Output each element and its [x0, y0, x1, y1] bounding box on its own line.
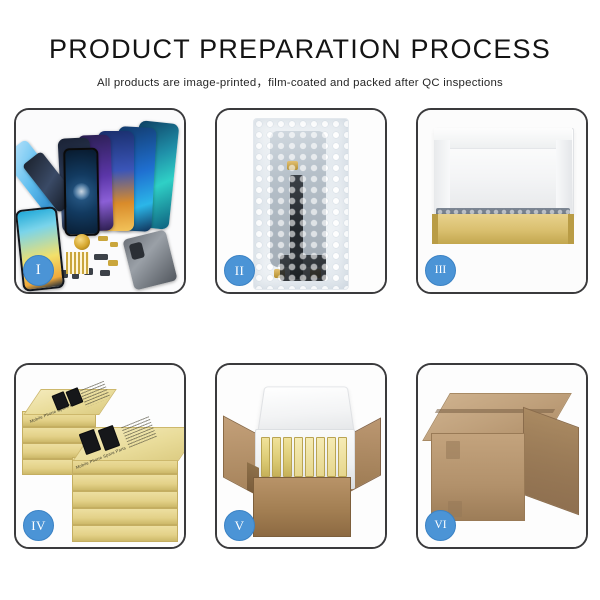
yellow-box-item — [272, 437, 281, 477]
panel-badge-5: V — [224, 510, 255, 541]
yellow-boxes-in-carton — [261, 437, 347, 477]
yellow-box-item — [327, 437, 336, 477]
carton-front-wall — [253, 477, 351, 537]
panel-badge-3: III — [425, 255, 456, 286]
foam-box-lid — [257, 386, 355, 433]
lid-side-right — [556, 140, 572, 214]
stacked-box — [72, 474, 178, 491]
ic-chip-part — [94, 254, 108, 260]
lid-side-left — [434, 140, 450, 214]
gold-contact-part — [108, 260, 118, 266]
panel-badge-4: IV — [23, 510, 54, 541]
tempered-glass-screen — [63, 148, 100, 237]
panel-carton-loading[interactable]: V — [215, 363, 387, 549]
bubble-wrap-bag — [253, 118, 349, 290]
yellow-box-item — [283, 437, 292, 477]
yellow-box-item — [316, 437, 325, 477]
panel-badge-6: VI — [425, 510, 456, 541]
tray-edge-right — [568, 214, 574, 244]
panel-stacked-boxes[interactable]: Mobile Phone Spare Parts Mobile Phone Sp… — [14, 363, 186, 549]
gold-contact-part — [98, 236, 108, 241]
gold-contact-part — [110, 242, 118, 247]
lid-fold — [434, 128, 572, 149]
connector-pad-part — [66, 252, 89, 274]
stacked-box — [72, 491, 178, 508]
stacked-box — [72, 525, 178, 542]
stacked-box — [72, 508, 178, 525]
page-subtitle: All products are image-printed，film-coat… — [0, 63, 600, 90]
yellow-box-item — [261, 437, 270, 477]
tray-edge-left — [432, 214, 438, 244]
panel-badge-2: II — [224, 255, 255, 286]
kraft-inner-tray — [432, 214, 574, 244]
sim-tray-part — [100, 270, 110, 276]
carton-tape-upper — [446, 441, 460, 459]
wrapped-connector — [287, 161, 298, 170]
process-panel-grid: I II — [14, 108, 588, 549]
page-title: PRODUCT PREPARATION PROCESS — [0, 0, 600, 63]
yellow-box-item — [338, 437, 347, 477]
yellow-box-item — [294, 437, 303, 477]
panel-inner-box-packing[interactable]: III — [416, 108, 588, 294]
panel-sealed-carton[interactable]: VI — [416, 363, 588, 549]
panel-screens-and-parts[interactable]: I — [14, 108, 186, 294]
wrapped-module — [280, 255, 326, 281]
gold-coil-part — [74, 234, 90, 250]
yellow-box-item — [305, 437, 314, 477]
page-header: PRODUCT PREPARATION PROCESS All products… — [0, 0, 600, 90]
panel-badge-1: I — [23, 255, 54, 286]
panel-bubble-wrapped-screen[interactable]: II — [215, 108, 387, 294]
